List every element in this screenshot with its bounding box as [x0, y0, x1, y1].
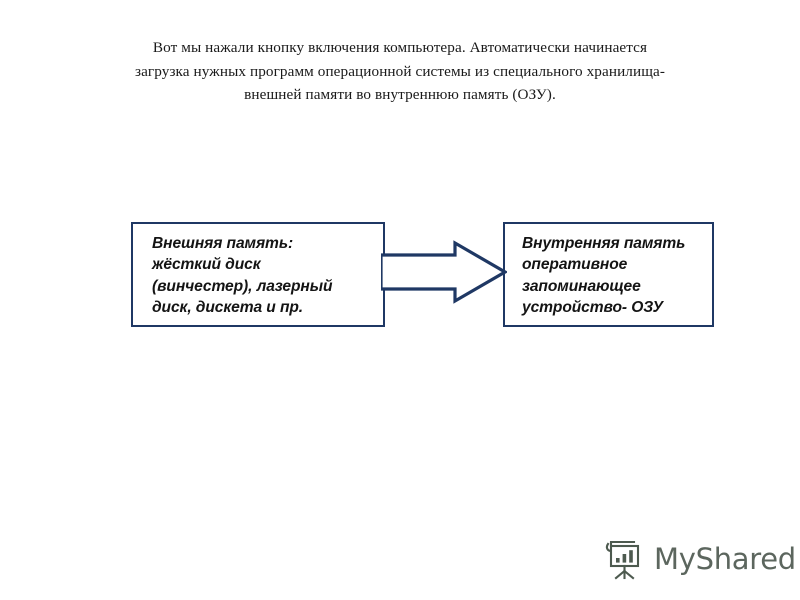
external-memory-box-text: Внешняя память: жёсткий диск (винчестер)… [152, 233, 332, 319]
external-memory-line-3: (винчестер), лазерный [152, 276, 332, 297]
myshared-watermark: MyShared [604, 534, 776, 584]
external-memory-line-2: жёсткий диск [152, 254, 332, 275]
presentation-board-chart-icon [604, 538, 646, 580]
block-arrow-right-icon [381, 238, 507, 306]
bar-chart-bars [616, 550, 633, 562]
external-memory-line-4: диск, дискета и пр. [152, 297, 332, 318]
intro-line-1: Вот мы нажали кнопку включения компьютер… [48, 36, 752, 60]
external-memory-line-1: Внешняя память: [152, 233, 332, 254]
internal-memory-line-1: Внутренняя память [522, 233, 685, 254]
myshared-label: MyShared [654, 545, 796, 574]
internal-memory-line-3: запоминающее [522, 276, 685, 297]
external-memory-box[interactable]: Внешняя память: жёсткий диск (винчестер)… [131, 222, 385, 327]
intro-paragraph: Вот мы нажали кнопку включения компьютер… [48, 36, 752, 107]
intro-line-2: загрузка нужных программ операционной си… [48, 60, 752, 84]
block-arrow-shape [381, 243, 505, 301]
slide-canvas: Вот мы нажали кнопку включения компьютер… [0, 0, 800, 600]
internal-memory-line-4: устройство- ОЗУ [522, 297, 685, 318]
internal-memory-line-2: оперативное [522, 254, 685, 275]
internal-memory-box[interactable]: Внутренняя память оперативное запоминающ… [503, 222, 714, 327]
intro-line-3: внешней памяти во внутреннюю память (ОЗУ… [48, 83, 752, 107]
internal-memory-box-text: Внутренняя память оперативное запоминающ… [522, 233, 685, 319]
